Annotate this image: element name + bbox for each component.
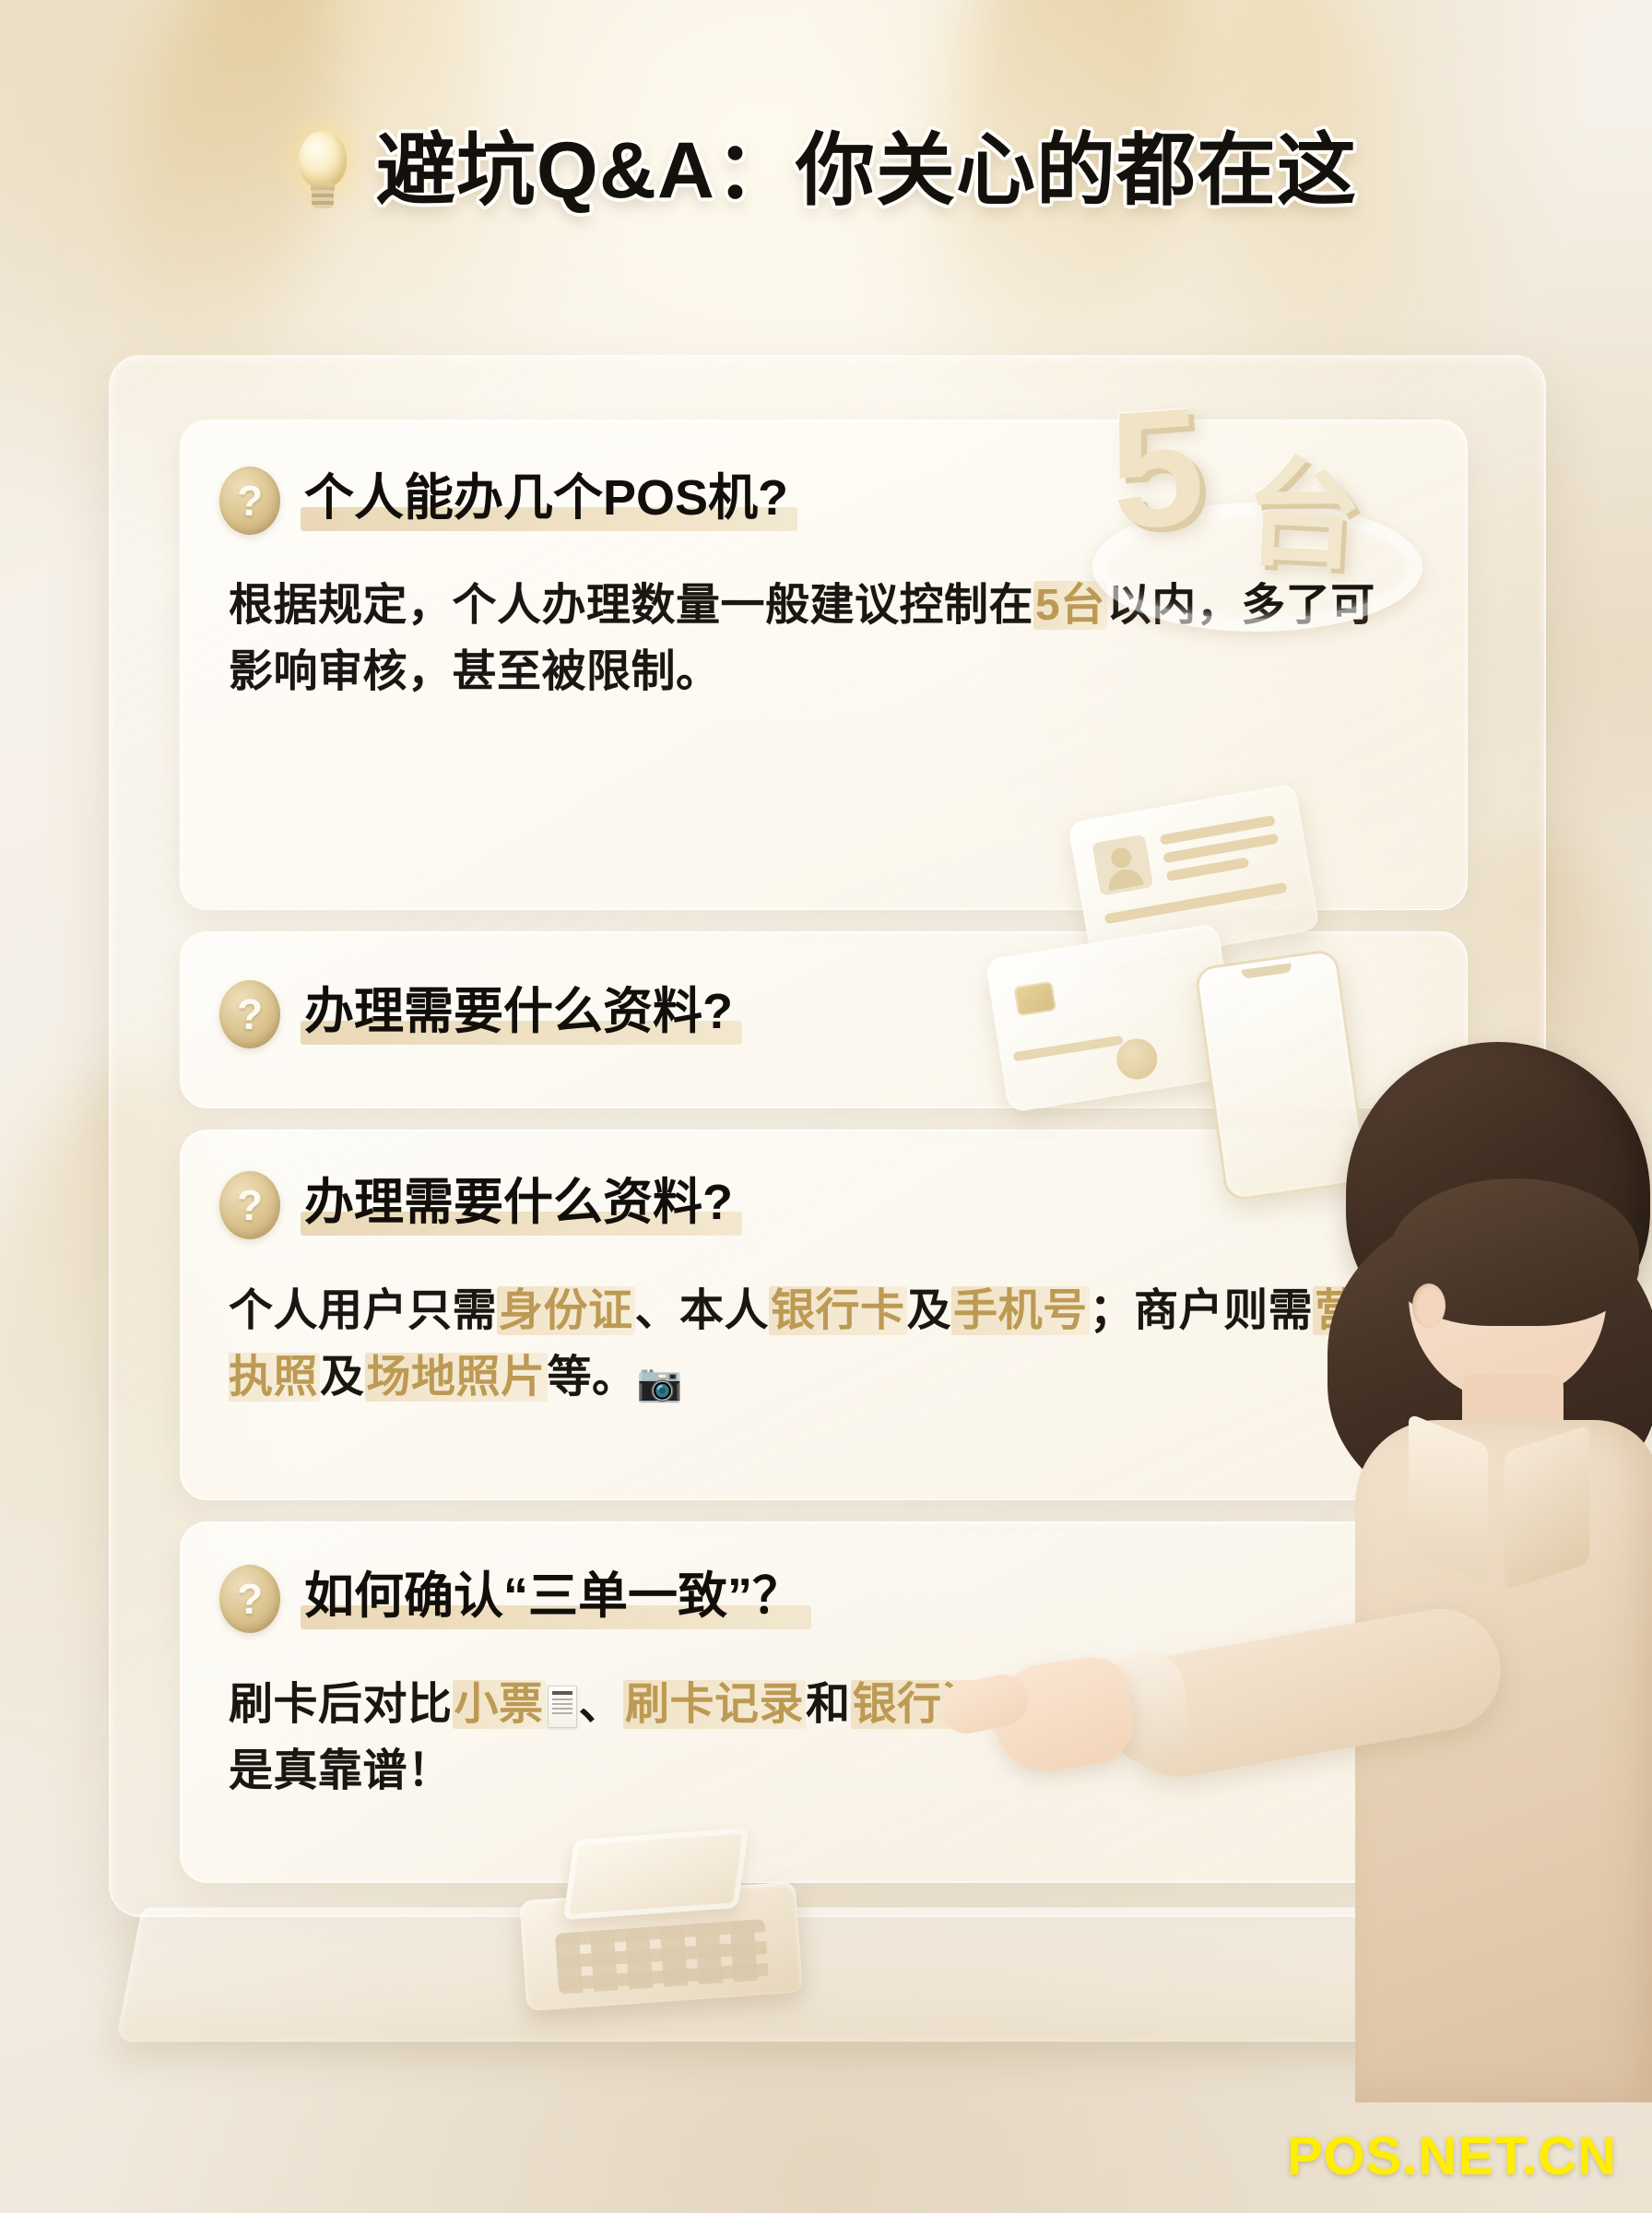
qa-card-4-title: 如何确认“三单一致”？ xyxy=(301,1568,811,1629)
pos-screen xyxy=(563,1828,749,1920)
body-text-segment: 、 xyxy=(579,1680,624,1729)
body-text-segment: 个人用户只需 xyxy=(229,1286,497,1335)
qa-card-3-title: 办理需要什么资料? xyxy=(301,1175,742,1236)
body-text-segment: 和 xyxy=(806,1680,851,1729)
qa-card-1-header: ? 个人能办几个POS机? xyxy=(219,467,797,535)
qa-card-2-header: ? 办理需要什么资料? xyxy=(219,980,742,1048)
lightbulb-icon xyxy=(295,131,350,210)
body-text-segment: 及 xyxy=(907,1286,952,1335)
body-text-segment: ；商户则需 xyxy=(1090,1286,1314,1335)
pos-terminal xyxy=(514,1816,831,2021)
avatar-icon xyxy=(1091,834,1153,896)
qa-card-1-title: 个人能办几个POS机? xyxy=(301,470,797,531)
qa-card-2-title: 办理需要什么资料? xyxy=(301,984,742,1045)
decoration-number-5: 5 xyxy=(1104,371,1209,567)
qa-card-3-body: 个人用户只需身份证、本人银行卡及手机号；商户则需营业执照及场地照片等。📷 xyxy=(229,1278,1427,1411)
character-illustration xyxy=(1291,1042,1652,2102)
question-mark-icon: ? xyxy=(219,1565,280,1633)
decoration-unit-tai: 台 xyxy=(1240,417,1367,593)
question-mark-icon: ? xyxy=(219,467,280,535)
body-highlight-sitephoto: 场地照片 xyxy=(365,1353,548,1402)
body-text-segment: 、本人 xyxy=(635,1286,770,1335)
body-text-segment: 刷卡后对比 xyxy=(229,1680,453,1729)
body-highlight-id: 身份证 xyxy=(497,1286,635,1335)
body-highlight-bankcard: 银行卡 xyxy=(769,1286,907,1335)
question-mark-icon: ? xyxy=(219,980,280,1048)
chip-icon xyxy=(1013,981,1056,1016)
question-mark-icon: ? xyxy=(219,1171,280,1239)
question-mark-glyph: ? xyxy=(219,1171,280,1239)
qa-card-4-header: ? 如何确认“三单一致”？ xyxy=(219,1565,811,1633)
qa-card-3-header: ? 办理需要什么资料? xyxy=(219,1171,742,1239)
receipt-icon xyxy=(548,1686,577,1728)
body-highlight-receipt: 小票 xyxy=(453,1680,546,1729)
body-text-segment: 根据规定，个人办理数量一般建议控制在 xyxy=(229,581,1033,630)
body-text-segment: 等。 xyxy=(548,1353,637,1402)
body-highlight-swiperecord: 刷卡记录 xyxy=(623,1680,806,1729)
body-highlight-phone: 手机号 xyxy=(951,1286,1090,1335)
question-mark-glyph: ? xyxy=(219,980,280,1048)
question-mark-glyph: ? xyxy=(219,467,280,535)
question-mark-glyph: ? xyxy=(219,1565,280,1633)
page-title: 避坑Q&A：你关心的都在这 xyxy=(376,131,1357,210)
watermark: POS.NET.CN xyxy=(1287,2125,1617,2187)
page-header: 避坑Q&A：你关心的都在这 xyxy=(0,120,1652,221)
decoration-3d-5tai: 5 台 xyxy=(1083,364,1434,613)
camera-icon: 📷 xyxy=(637,1363,683,1403)
body-text-segment: 及 xyxy=(320,1353,365,1402)
